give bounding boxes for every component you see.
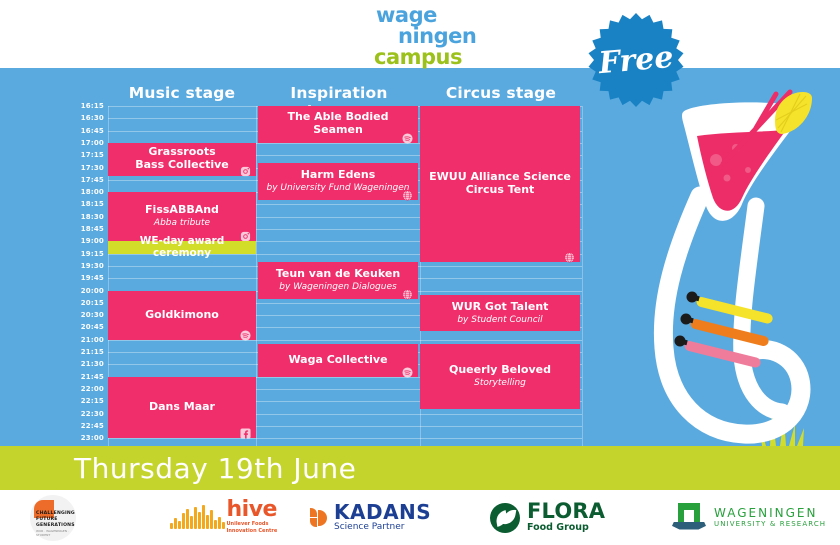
event-subtitle: by University Fund Wageningen <box>267 183 410 194</box>
time-label: 17:45 <box>62 176 104 184</box>
event-title: GrassrootsBass Collective <box>135 146 229 172</box>
kadans-mark-icon <box>310 507 328 529</box>
globe-icon[interactable] <box>402 186 413 197</box>
cfg-line-1: CHALLENGING <box>36 511 75 517</box>
event-title: The Able Bodied Seamen <box>264 111 412 137</box>
column-divider <box>256 106 257 446</box>
time-label: 17:00 <box>62 139 104 147</box>
logo-line-2: ningen <box>374 26 514 47</box>
stage-header-music: Music stage <box>107 84 257 102</box>
wur-wordmark: WAGENINGEN <box>714 506 826 520</box>
time-label: 21:00 <box>62 336 104 344</box>
globe-icon[interactable] <box>564 248 575 259</box>
flora-leaf-icon <box>490 503 520 533</box>
kadans-wordmark: KADANS <box>334 502 431 522</box>
time-label: 18:30 <box>62 213 104 221</box>
sponsor-bar: CHALLENGING FUTURE GENERATIONS WUR · WAG… <box>0 490 840 545</box>
time-label: 22:45 <box>62 422 104 430</box>
logo-line-3: campus <box>374 47 514 68</box>
time-label: 18:00 <box>62 188 104 196</box>
event-title: Dans Maar <box>149 401 215 414</box>
event-title: EWUU Alliance ScienceCircus Tent <box>429 171 571 197</box>
date-banner-text: Thursday 19th June <box>0 452 356 485</box>
event-block[interactable]: EWUU Alliance ScienceCircus Tent <box>420 106 580 262</box>
time-label: 19:15 <box>62 250 104 258</box>
time-label: 19:45 <box>62 274 104 282</box>
instagram-icon[interactable] <box>240 162 251 173</box>
time-label: 22:30 <box>62 410 104 418</box>
spotify-icon[interactable] <box>240 326 251 337</box>
globe-icon[interactable] <box>402 285 413 296</box>
event-title: Waga Collective <box>288 354 387 367</box>
header-band: wage ningen campus <box>0 0 840 68</box>
hive-wordmark: hive <box>227 500 278 520</box>
event-subtitle: by Student Council <box>457 315 542 326</box>
sponsor-logo-flora: FLORA Food Group <box>490 490 605 545</box>
event-block[interactable]: The Able Bodied Seamen <box>258 106 418 143</box>
flora-wordmark: FLORA <box>527 501 605 522</box>
event-title: Teun van de Keuken <box>276 268 400 281</box>
time-label: 19:30 <box>62 262 104 270</box>
time-label: 16:15 <box>62 102 104 110</box>
sponsor-logo-wageningen-university-research: WAGENINGEN UNIVERSITY & RESEARCH <box>672 490 826 545</box>
time-label: 22:15 <box>62 397 104 405</box>
time-label: 18:15 <box>62 200 104 208</box>
event-title: WUR Got Talent <box>452 301 549 314</box>
time-label: 18:45 <box>62 225 104 233</box>
event-title: WE-day award ceremony <box>114 235 250 260</box>
event-subtitle: Abba tribute <box>154 218 210 229</box>
cfg-subline: WUR · WAGENINGEN · STUDENT <box>36 529 76 537</box>
spotify-icon[interactable] <box>402 363 413 374</box>
time-label: 21:15 <box>62 348 104 356</box>
event-title: Harm Edens <box>301 169 376 182</box>
schedule-grid: Music stage Inspiration terrace Circus s… <box>0 68 840 446</box>
sponsor-logo-kadans: KADANS Science Partner <box>310 490 431 545</box>
spotify-icon[interactable] <box>402 129 413 140</box>
grid-line <box>108 438 582 439</box>
event-title: Goldkimono <box>145 309 219 322</box>
logo-line-1: wage <box>374 5 514 26</box>
time-label: 21:30 <box>62 360 104 368</box>
event-block[interactable]: Teun van de Keukenby Wageningen Dialogue… <box>258 262 418 299</box>
hive-bars-icon <box>170 505 225 529</box>
event-block[interactable]: Waga Collective <box>258 344 418 377</box>
time-label: 20:15 <box>62 299 104 307</box>
time-label: 17:30 <box>62 164 104 172</box>
wageningen-campus-logo: wage ningen campus <box>374 5 514 63</box>
event-subtitle: Storytelling <box>474 378 526 389</box>
hive-subline-2: Innovation Centre <box>227 528 278 535</box>
event-block[interactable]: GrassrootsBass Collective <box>108 143 256 176</box>
wur-mark-icon <box>672 503 706 533</box>
time-label: 16:45 <box>62 127 104 135</box>
event-block[interactable]: WUR Got Talentby Student Council <box>420 295 580 332</box>
event-title: Queerly Beloved <box>449 364 551 377</box>
stage-header-circus: Circus stage <box>420 84 582 102</box>
facebook-icon[interactable] <box>240 424 251 435</box>
event-block[interactable]: WE-day award ceremony <box>108 241 256 253</box>
time-label: 20:00 <box>62 287 104 295</box>
event-block[interactable]: FissABBAndAbba tribute <box>108 192 256 241</box>
event-block[interactable]: Queerly BelovedStorytelling <box>420 344 580 410</box>
time-label: 21:45 <box>62 373 104 381</box>
event-block[interactable]: Dans Maar <box>108 377 256 439</box>
sponsor-logo-challenging-future-generations: CHALLENGING FUTURE GENERATIONS WUR · WAG… <box>30 490 76 545</box>
time-label: 20:30 <box>62 311 104 319</box>
event-title: FissABBAnd <box>145 204 219 217</box>
event-block[interactable]: Harm Edensby University Fund Wageningen <box>258 163 418 200</box>
time-label: 16:30 <box>62 114 104 122</box>
time-label: 19:00 <box>62 237 104 245</box>
date-banner: Thursday 19th June <box>0 446 840 490</box>
flora-subline: Food Group <box>527 522 605 534</box>
time-label: 23:00 <box>62 434 104 442</box>
event-subtitle: by Wageningen Dialogues <box>279 282 396 293</box>
grid-line <box>108 340 582 341</box>
time-label: 17:15 <box>62 151 104 159</box>
event-block[interactable]: Goldkimono <box>108 291 256 340</box>
column-divider <box>582 106 583 446</box>
wur-subline: UNIVERSITY & RESEARCH <box>714 520 826 529</box>
time-label: 22:00 <box>62 385 104 393</box>
sponsor-logo-hive: hive Unilever Foods Innovation Centre <box>170 490 277 545</box>
time-label: 20:45 <box>62 323 104 331</box>
